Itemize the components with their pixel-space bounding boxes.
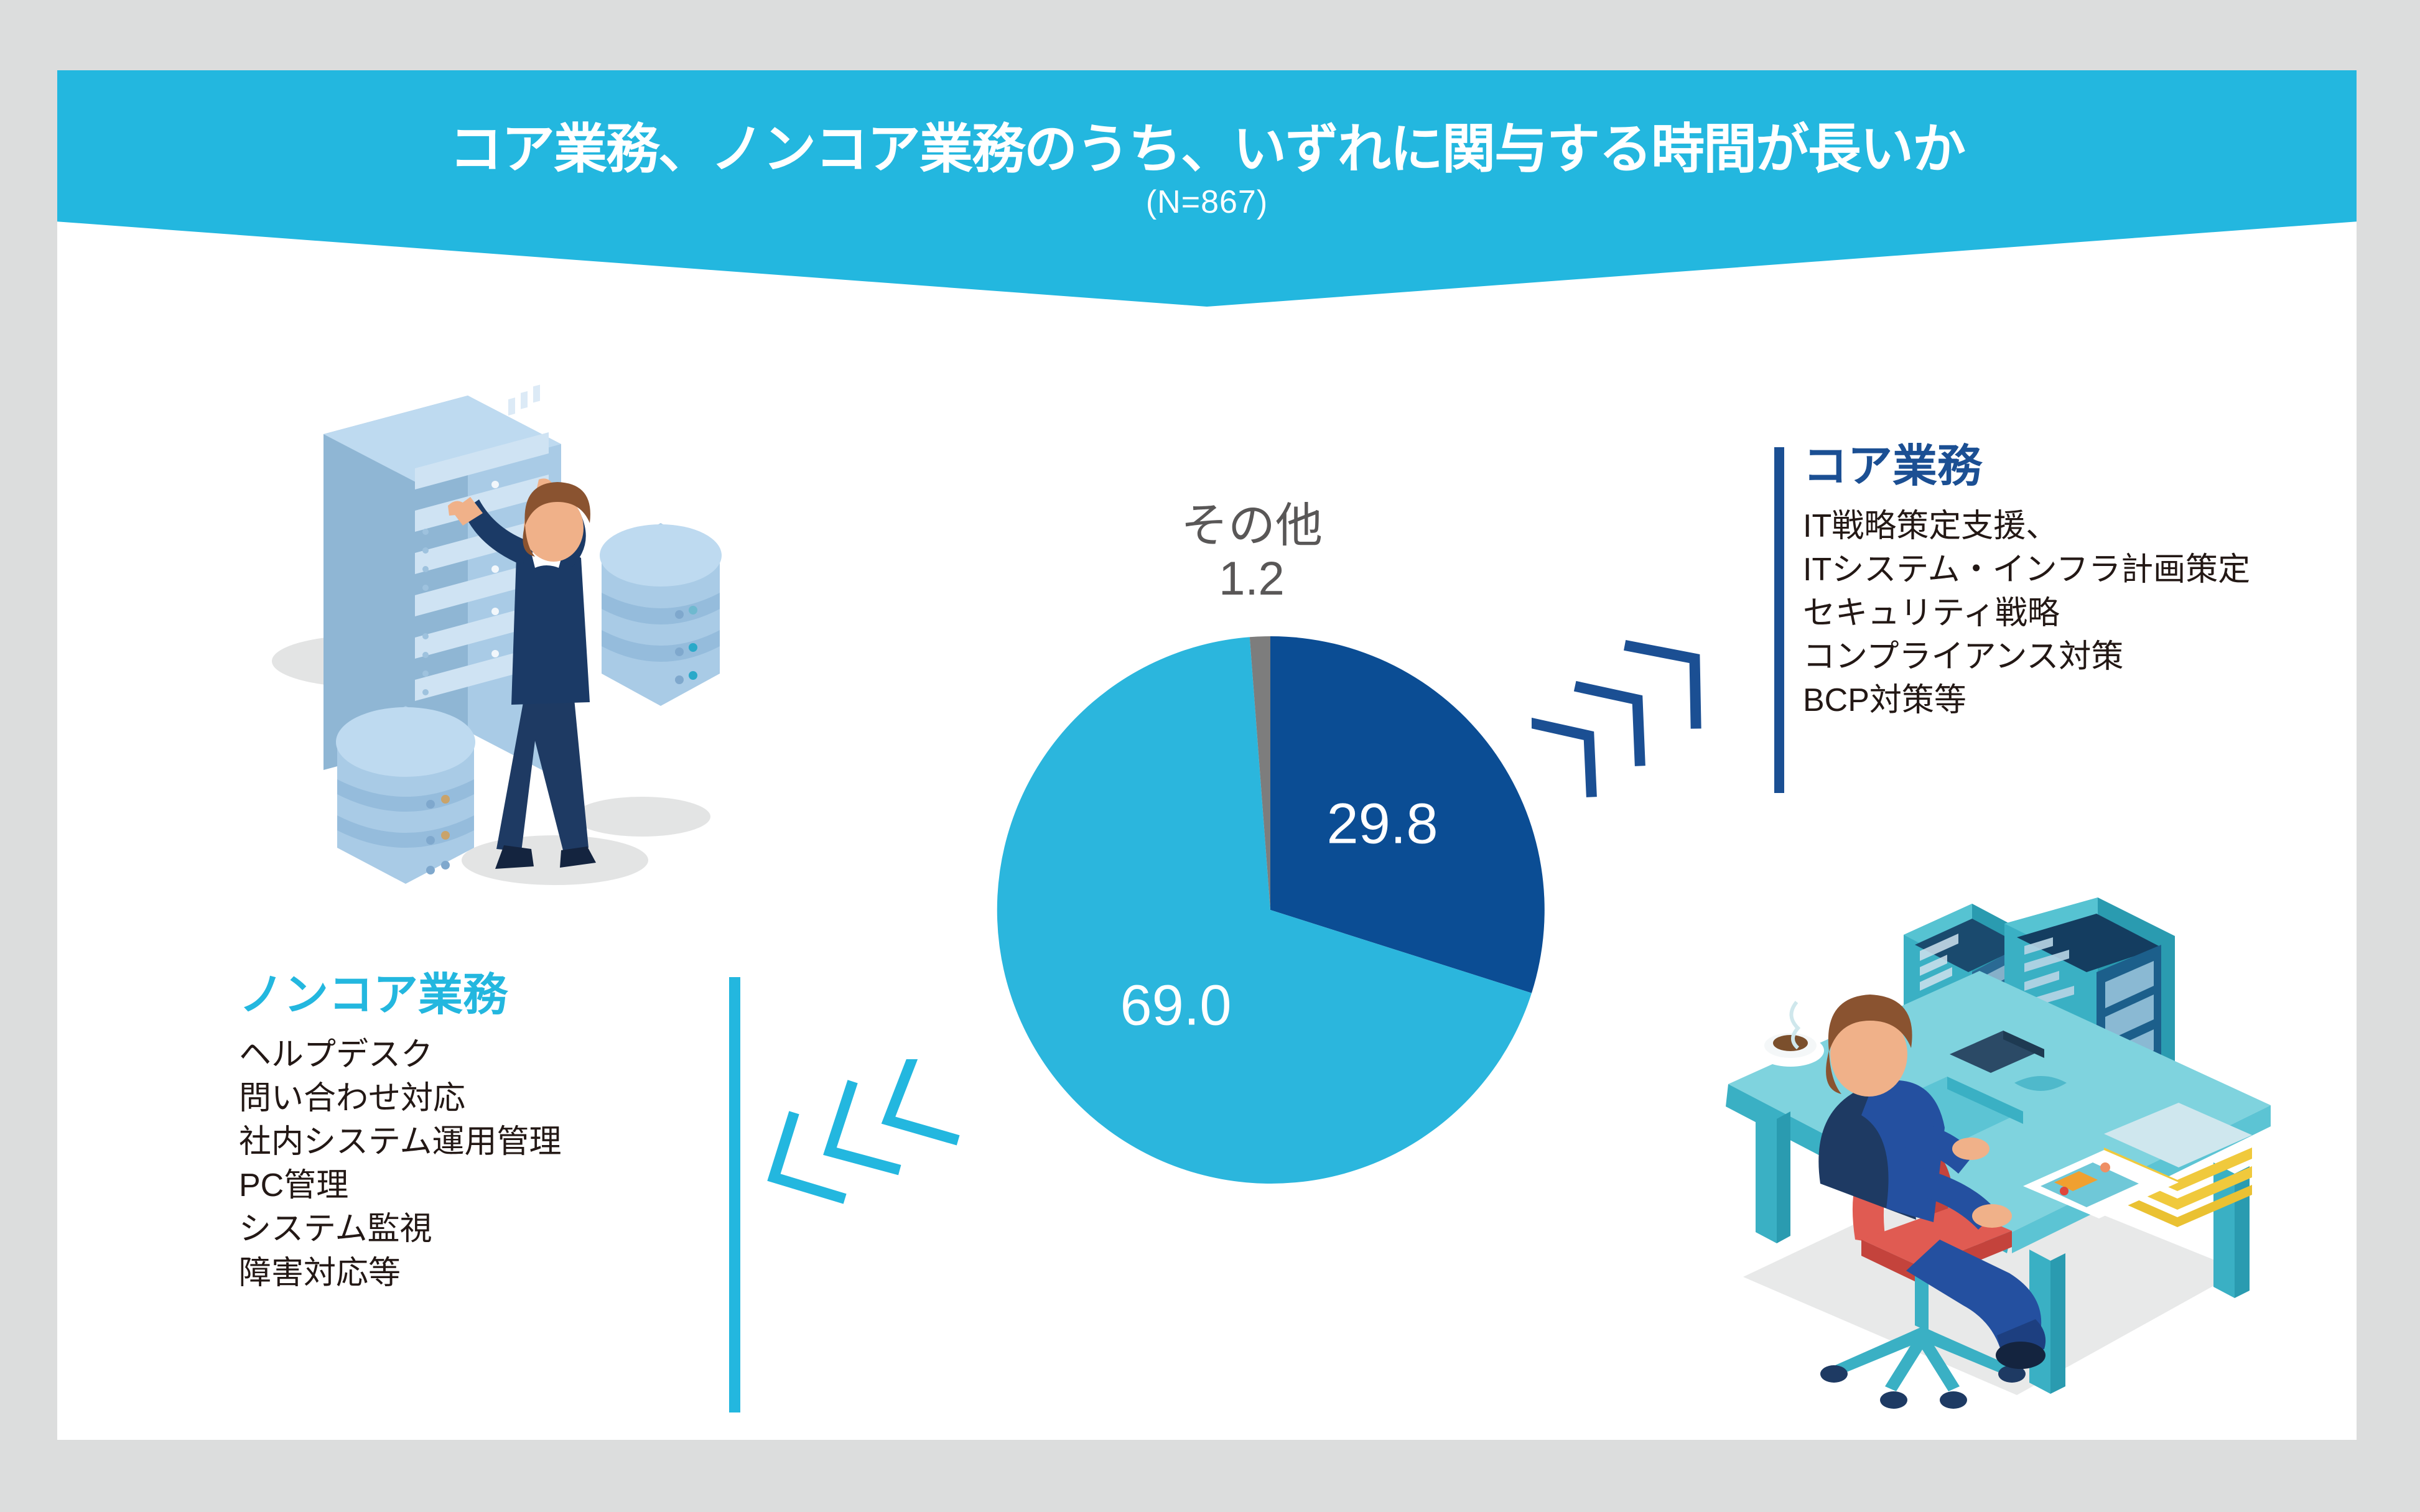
pie-other-callout: その他 1.2 (878, 499, 1625, 605)
list-item: 問い合わせ対応 (239, 1077, 712, 1120)
noncore-chevron-arrows (766, 1059, 972, 1218)
core-business-block: コア業務 IT戦略策定支援、 ITシステム・インフラ計画策定 セキュリティ戦略 … (1774, 443, 2250, 723)
chevron-arrow-icon (888, 1059, 953, 1139)
pie-other-category: その他 (878, 499, 1625, 552)
list-item: ヘルプデスク (239, 1033, 712, 1077)
pie-other-value: 1.2 (878, 552, 1625, 605)
noncore-heading: ノンコア業務 (239, 972, 712, 1019)
infographic-card: コア業務、ノンコア業務のうち、いずれに関与する時間が長いか (N=867) (57, 70, 2357, 1440)
list-item: BCP対策等 (1803, 679, 2250, 722)
chevron-arrow-icon (830, 1087, 895, 1169)
sample-size-label: (N=867) (57, 183, 2357, 221)
header-banner: コア業務、ノンコア業務のうち、いずれに関与する時間が長いか (N=867) (57, 70, 2357, 307)
noncore-business-block: ノンコア業務 ヘルプデスク 問い合わせ対応 社内システム運用管理 PC管理 シス… (239, 972, 740, 1295)
list-item: 障害対応等 (239, 1251, 712, 1295)
noncore-item-list: ヘルプデスク 問い合わせ対応 社内システム運用管理 PC管理 システム監視 障害… (239, 1033, 712, 1295)
core-accent-bar (1774, 447, 1784, 793)
pie-label-core: 29.8 (1326, 792, 1438, 855)
page-title: コア業務、ノンコア業務のうち、いずれに関与する時間が長いか (57, 105, 2357, 183)
list-item: システム監視 (239, 1207, 712, 1251)
core-item-list: IT戦略策定支援、 ITシステム・インフラ計画策定 セキュリティ戦略 コンプライ… (1803, 504, 2250, 723)
desk-worker-dual-monitor-illustration (1668, 891, 2291, 1454)
chevron-arrow-icon (1533, 723, 1591, 792)
pie-label-noncore: 69.0 (1120, 973, 1231, 1037)
noncore-accent-bar (729, 977, 740, 1412)
server-rack-engineer-illustration (244, 369, 742, 932)
list-item: IT戦略策定支援、 (1803, 504, 2250, 548)
core-chevron-arrows (1532, 611, 1737, 801)
list-item: 社内システム運用管理 (239, 1120, 712, 1164)
chevron-arrow-icon (774, 1118, 840, 1197)
list-item: PC管理 (239, 1164, 712, 1207)
list-item: コンプライアンス対策 (1803, 635, 2250, 679)
core-heading: コア業務 (1803, 443, 2250, 491)
list-item: セキュリティ戦略 (1803, 591, 2250, 635)
list-item: ITシステム・インフラ計画策定 (1803, 548, 2250, 591)
pie-chart: その他 1.2 29.8 69.0 (878, 499, 1625, 1221)
